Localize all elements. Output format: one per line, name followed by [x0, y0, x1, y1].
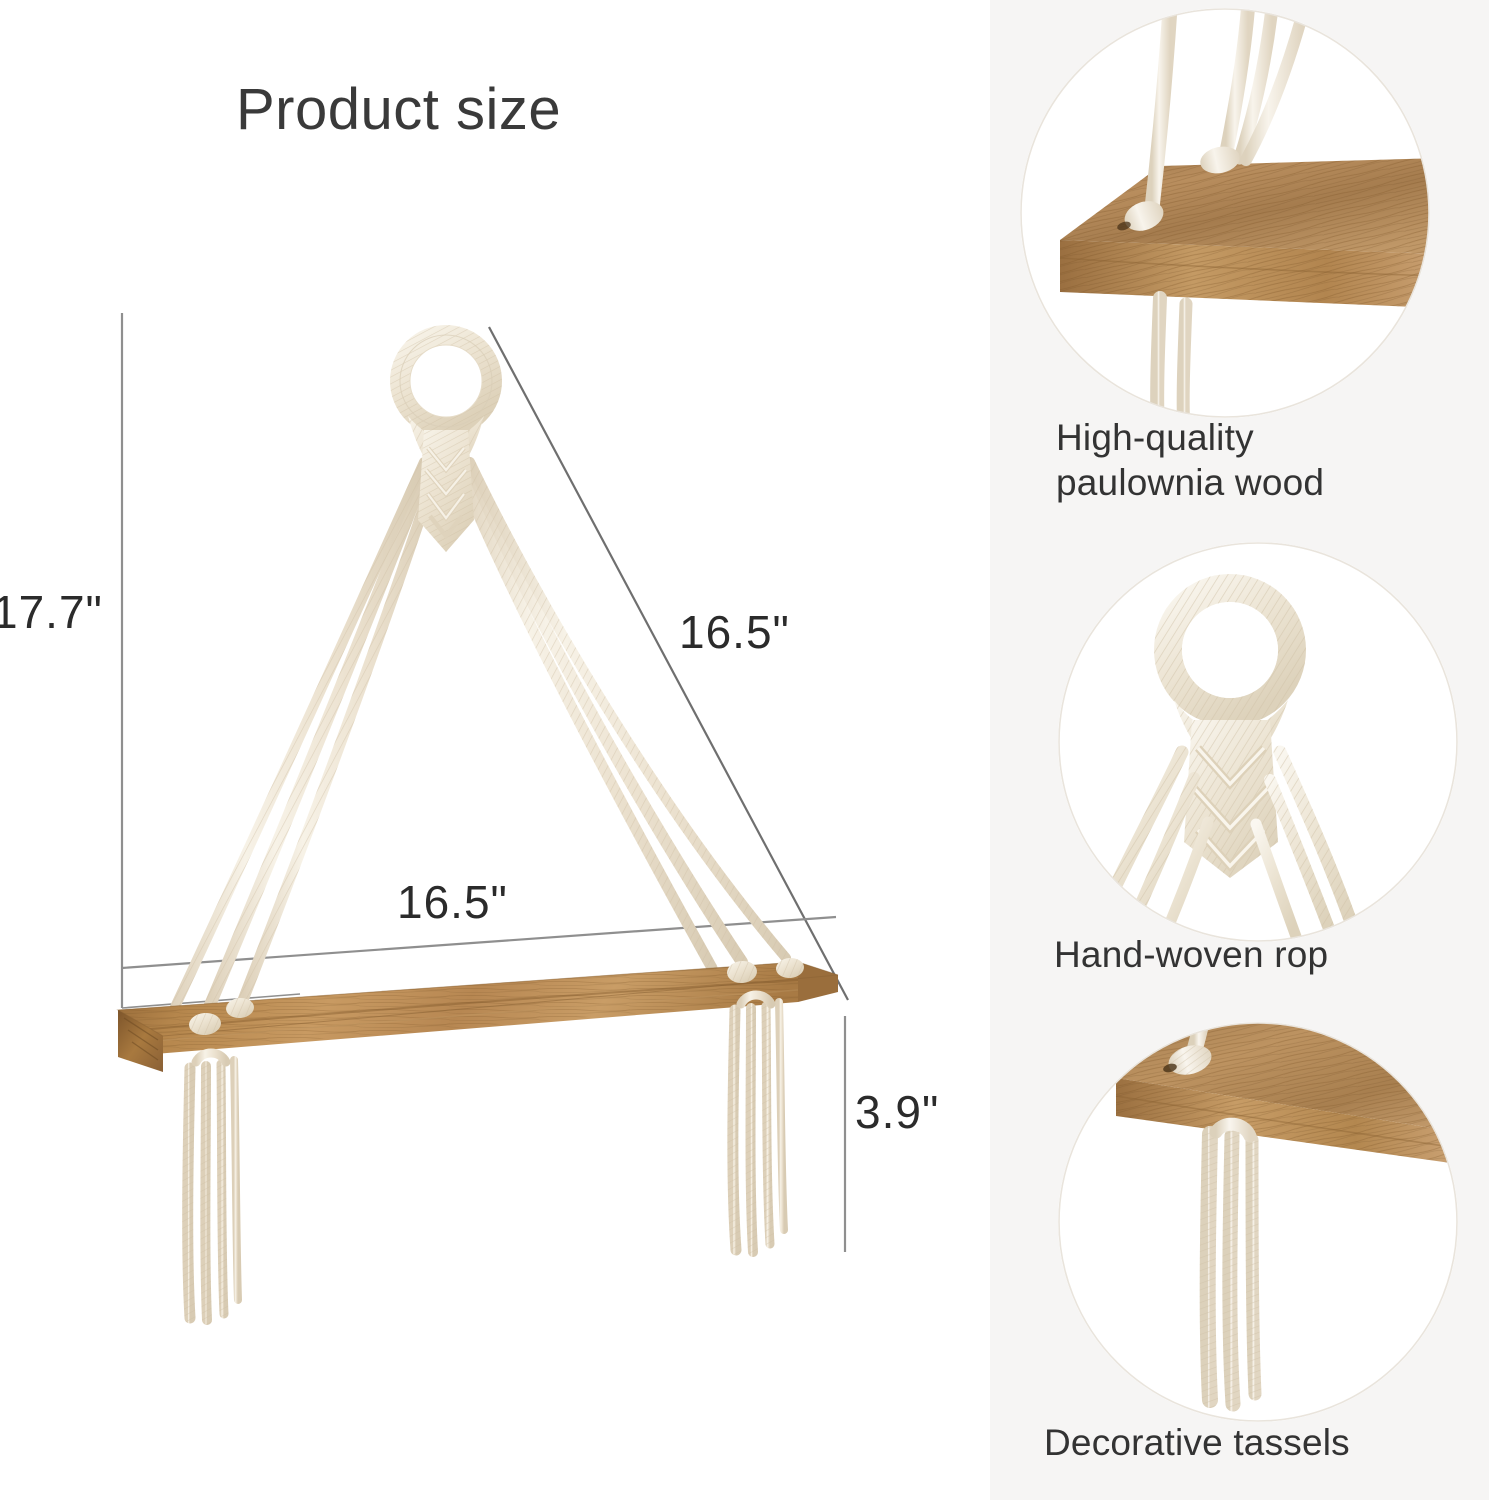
feature-caption-hand-woven-rope: Hand-woven rop — [1054, 932, 1484, 977]
feature-block-decorative-tassels: Decorative tassels — [990, 1010, 1489, 1500]
feature-block-hand-woven-rope: Hand-woven rop — [990, 520, 1489, 1010]
feature-caption-decorative-tassels: Decorative tassels — [1044, 1420, 1484, 1465]
dimension-label-height: 17.7" — [0, 585, 103, 639]
dimension-label-diagonal: 16.5" — [679, 605, 790, 659]
feature-caption-paulownia-wood: High-quality paulownia wood — [1056, 415, 1486, 505]
caption-line-1: Hand-woven rop — [1054, 932, 1484, 977]
feature-photo-decorative-tassels — [1058, 1022, 1458, 1422]
caption-line-1: High-quality — [1056, 415, 1486, 460]
tassel-right — [733, 995, 784, 1252]
dimension-label-depth: 3.9" — [855, 1085, 939, 1139]
tassel-left — [188, 1053, 238, 1320]
product-diagram — [0, 0, 990, 1500]
product-size-panel: Product size — [0, 0, 990, 1500]
feature-photo-hand-woven-rope — [1058, 542, 1458, 942]
rope-left-strands — [168, 452, 442, 1022]
feature-highlights-panel: High-quality paulownia wood — [990, 0, 1489, 1500]
feature-block-paulownia-wood: High-quality paulownia wood — [990, 0, 1489, 520]
caption-line-1: Decorative tassels — [1044, 1420, 1484, 1465]
caption-line-2: paulownia wood — [1056, 460, 1486, 505]
infographic-root: Product size — [0, 0, 1489, 1500]
feature-photo-paulownia-wood — [1020, 8, 1430, 418]
macrame-ring — [400, 335, 492, 427]
dimension-label-width: 16.5" — [397, 875, 508, 929]
